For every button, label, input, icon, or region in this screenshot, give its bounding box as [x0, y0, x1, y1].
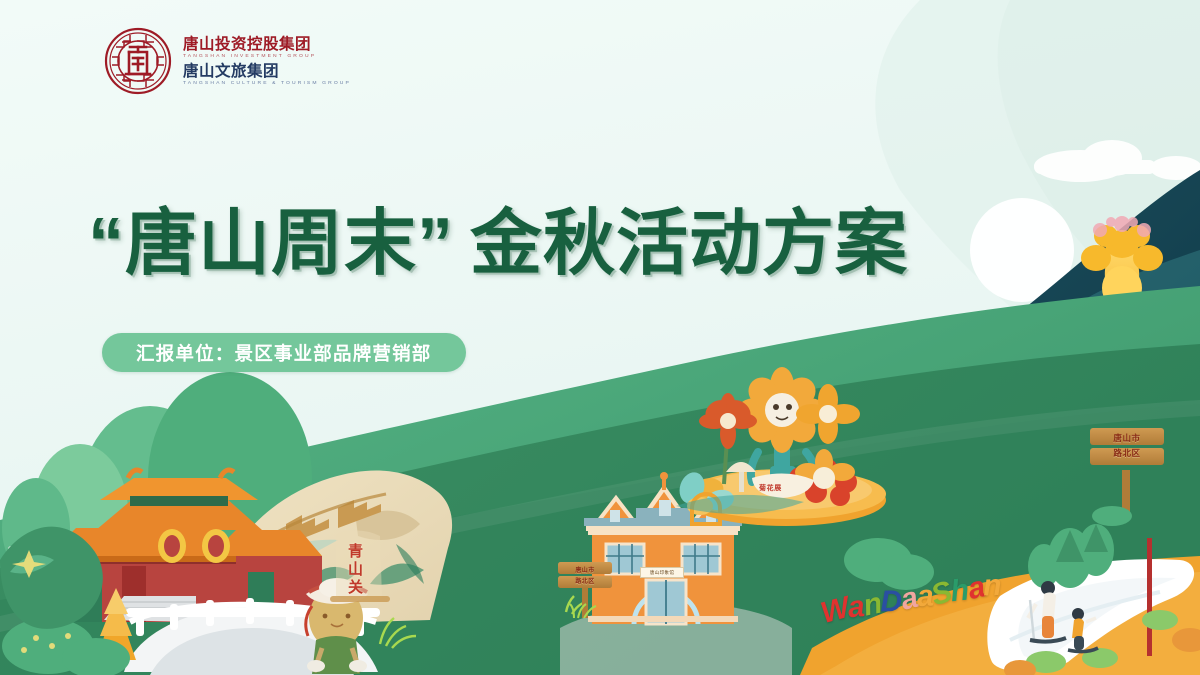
- logo-line-tourism: 唐山文旅集团 TANGSHAN CULTURE & TOURISM GROUP: [183, 64, 351, 88]
- brand-logo[interactable]: 唐山投资控股集团 TANGSHAN INVESTMENT GROUP 唐山文旅集…: [104, 27, 351, 95]
- title-rest-part: 金秋活动方案: [470, 204, 908, 284]
- title-quoted-part: “唐山周末”: [88, 204, 454, 284]
- signpost-right-line2: 路北区: [1086, 447, 1168, 459]
- flower-bed-label: 菊花展: [759, 483, 782, 493]
- reporting-unit-label: 汇报单位：景区事业部品牌营销部: [136, 340, 432, 366]
- tangshan-seal-icon: [104, 27, 172, 95]
- signpost-center-line1: 唐山市: [556, 565, 614, 574]
- reporting-unit-badge: 汇报单位：景区事业部品牌营销部: [102, 333, 466, 372]
- presentation-cover-slide: 唐山投资控股集团 TANGSHAN INVESTMENT GROUP 唐山文旅集…: [0, 0, 1200, 675]
- signpost-right-line1: 唐山市: [1086, 432, 1168, 444]
- signpost-center: 唐山市 路北区: [556, 558, 614, 616]
- signpost-right: 唐山市 路北区: [1086, 422, 1168, 500]
- logo-en-2: TANGSHAN CULTURE & TOURISM GROUP: [183, 80, 351, 87]
- logo-line-investment: 唐山投资控股集团 TANGSHAN INVESTMENT GROUP: [183, 37, 351, 61]
- signpost-center-line2: 路北区: [556, 576, 614, 585]
- page-title: “唐山周末”金秋活动方案: [88, 203, 908, 286]
- logo-cn-2: 唐山文旅集团: [183, 64, 351, 80]
- logo-cn-1: 唐山投资控股集团: [183, 37, 351, 53]
- wordmark-letter: n: [983, 569, 1002, 604]
- logo-en-1: TANGSHAN INVESTMENT GROUP: [183, 53, 351, 60]
- building-plaque-label: 唐山印象馆: [640, 567, 684, 578]
- scroll-vertical-label: 青山关: [344, 543, 365, 597]
- brand-logo-text: 唐山投资控股集团 TANGSHAN INVESTMENT GROUP 唐山文旅集…: [183, 35, 351, 88]
